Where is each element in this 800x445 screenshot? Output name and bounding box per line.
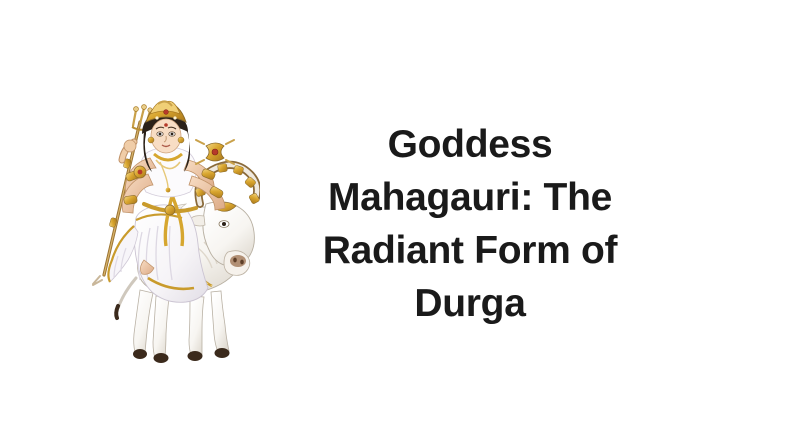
damaru-icon <box>196 140 234 164</box>
title-line-4: Durga <box>285 277 655 330</box>
goddess-mahagauri-illustration <box>78 100 260 372</box>
hand-ornament-icon <box>134 166 146 178</box>
page-root: Goddess Mahagauri: The Radiant Form of D… <box>0 0 800 445</box>
title-line-1: Goddess <box>285 118 655 171</box>
title-line-3: Radiant Form of <box>285 224 655 277</box>
page-title: Goddess Mahagauri: The Radiant Form of D… <box>285 118 655 330</box>
title-line-2: Mahagauri: The <box>285 171 655 224</box>
